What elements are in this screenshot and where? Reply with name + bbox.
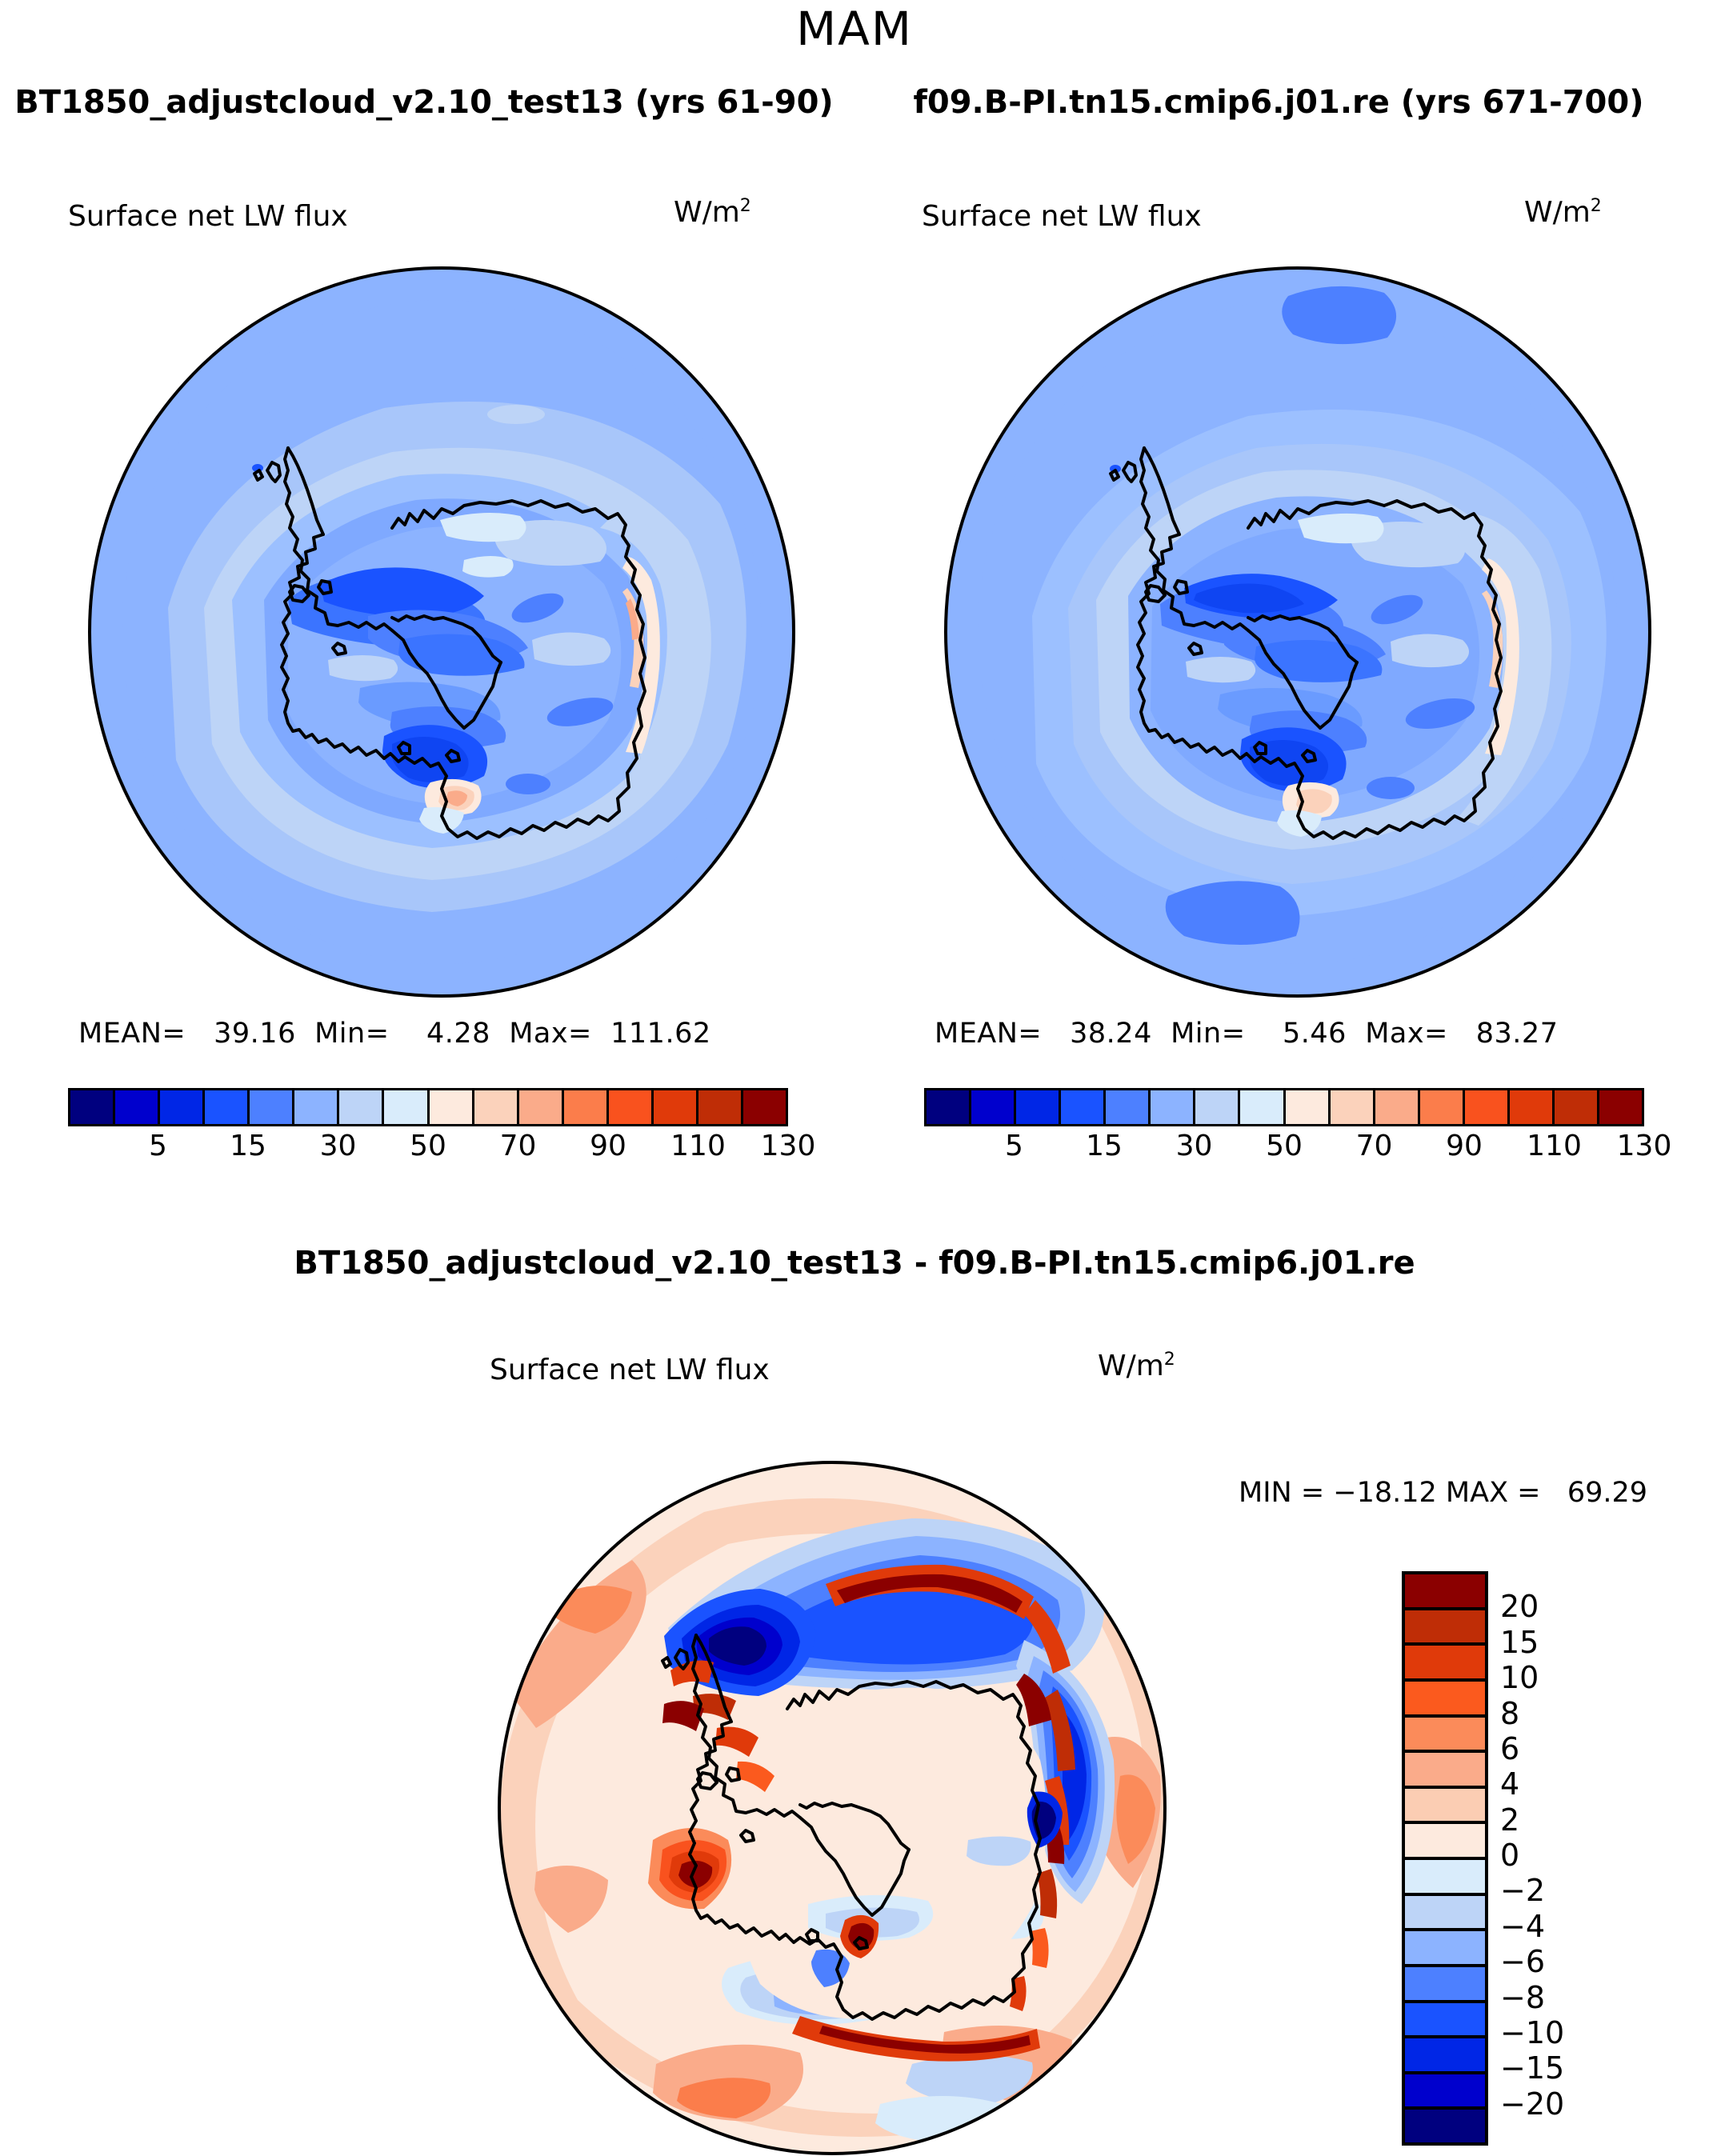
colorbar-cell	[1405, 1824, 1485, 1860]
colorbar-tick-label: 30	[320, 1130, 357, 1162]
colorbar-tick-label: 130	[761, 1130, 816, 1162]
colorbar-cell	[971, 1090, 1016, 1124]
colorbar-top-left	[68, 1088, 788, 1126]
variable-label-top-right: Surface net LW flux	[922, 200, 1202, 233]
colorbar-top-right	[924, 1088, 1644, 1126]
colorbar-cell	[1405, 1646, 1485, 1682]
colorbar-tick-label: 110	[1527, 1130, 1582, 1162]
colorbar-tick-label: −8	[1500, 1980, 1545, 2015]
colorbar-cell	[1286, 1090, 1331, 1124]
colorbar-tick-label: −20	[1500, 2086, 1564, 2122]
colorbar-tick-label: 110	[670, 1130, 726, 1162]
colorbar-tick-label: −4	[1500, 1909, 1545, 1944]
colorbar-tick-label: 50	[410, 1130, 446, 1162]
colorbar-tick-label: 15	[1086, 1130, 1123, 1162]
minmax-difference: MIN = −18.12 MAX = 69.29	[1239, 1477, 1647, 1509]
colorbar-cell	[1405, 2038, 1485, 2074]
colorbar-tick-label: 10	[1500, 1660, 1539, 1695]
unit-label-top-left: W/m2	[674, 196, 751, 229]
colorbar-cell	[1510, 1090, 1555, 1124]
colorbar-cell	[1405, 1574, 1485, 1610]
colorbar-tick-label: 0	[1500, 1838, 1519, 1873]
colorbar-ticks-top-left: 51530507090110130	[68, 1130, 788, 1170]
colorbar-tick-label: −15	[1500, 2050, 1564, 2086]
colorbar-cell	[474, 1090, 519, 1124]
colorbar-cell	[927, 1090, 971, 1124]
map-top-right	[904, 264, 1688, 1000]
colorbar-tick-label: 20	[1500, 1589, 1539, 1624]
colorbar-tick-label: −6	[1500, 1944, 1545, 1979]
colorbar-cell	[70, 1090, 115, 1124]
colorbar-cell	[1599, 1090, 1642, 1124]
map-difference	[464, 1456, 1200, 2156]
colorbar-cell	[1555, 1090, 1599, 1124]
colorbar-ticks-top-right: 51530507090110130	[924, 1130, 1644, 1170]
colorbar-cell	[1405, 2110, 1485, 2142]
unit-text: W/m	[674, 196, 740, 229]
colorbar-tick-label: 90	[1446, 1130, 1483, 1162]
colorbar-cell	[205, 1090, 250, 1124]
colorbar-cell	[1405, 2074, 1485, 2110]
colorbar-tick-label: 90	[590, 1130, 626, 1162]
colorbar-cell	[1405, 2003, 1485, 2039]
colorbar-cell	[654, 1090, 698, 1124]
colorbar-tick-label: 30	[1176, 1130, 1213, 1162]
colorbar-cell	[1061, 1090, 1106, 1124]
unit-exponent: 2	[1591, 196, 1602, 216]
colorbar-cell	[609, 1090, 654, 1124]
colorbar-cell	[564, 1090, 609, 1124]
unit-text: W/m	[1098, 1350, 1164, 1382]
colorbar-ticks-difference: 20151086420−2−4−6−8−10−15−20	[1500, 1571, 1660, 2142]
colorbar-tick-label: 5	[1005, 1130, 1023, 1162]
colorbar-cell	[1465, 1090, 1510, 1124]
season-title: MAM	[0, 2, 1709, 56]
colorbar-cell	[430, 1090, 474, 1124]
colorbar-tick-label: −10	[1500, 2015, 1564, 2050]
variable-label-difference: Surface net LW flux	[490, 1354, 770, 1386]
colorbar-cell	[698, 1090, 743, 1124]
unit-exponent: 2	[740, 196, 751, 216]
colorbar-cell	[1331, 1090, 1375, 1124]
colorbar-tick-label: 70	[500, 1130, 537, 1162]
colorbar-tick-label: 70	[1356, 1130, 1393, 1162]
colorbar-tick-label: 6	[1500, 1731, 1519, 1766]
colorbar-cell	[519, 1090, 564, 1124]
panel-title-difference: BT1850_adjustcloud_v2.10_test13 - f09.B-…	[0, 1245, 1709, 1282]
colorbar-cell	[1405, 1967, 1485, 2003]
panel-title-top-left: BT1850_adjustcloud_v2.10_test13 (yrs 61-…	[0, 84, 848, 121]
panel-title-top-right: f09.B-PI.tn15.cmip6.j01.re (yrs 671-700)	[848, 84, 1709, 121]
colorbar-cell	[1240, 1090, 1285, 1124]
variable-label-top-left: Surface net LW flux	[68, 200, 348, 233]
colorbar-cell	[1405, 1789, 1485, 1825]
stats-top-left: MEAN= 39.16 Min= 4.28 Max= 111.62	[78, 1018, 711, 1050]
colorbar-cell	[1405, 1718, 1485, 1754]
colorbar-tick-label: 8	[1500, 1696, 1519, 1731]
colorbar-tick-label: 5	[149, 1130, 167, 1162]
stats-top-right: MEAN= 38.24 Min= 5.46 Max= 83.27	[935, 1018, 1558, 1050]
colorbar-tick-label: 15	[230, 1130, 266, 1162]
colorbar-cell	[1405, 1610, 1485, 1646]
colorbar-cell	[339, 1090, 384, 1124]
colorbar-difference	[1402, 1571, 1488, 2146]
colorbar-cell	[294, 1090, 339, 1124]
colorbar-tick-label: 50	[1266, 1130, 1303, 1162]
colorbar-cell	[743, 1090, 786, 1124]
colorbar-cell	[1195, 1090, 1240, 1124]
unit-exponent: 2	[1164, 1350, 1175, 1370]
map-top-left	[48, 264, 832, 1000]
colorbar-cell	[1151, 1090, 1195, 1124]
colorbar-cell	[1016, 1090, 1061, 1124]
colorbar-cell	[1405, 1860, 1485, 1896]
colorbar-tick-label: 2	[1500, 1802, 1519, 1838]
colorbar-cell	[1405, 1682, 1485, 1718]
colorbar-cell	[1106, 1090, 1151, 1124]
colorbar-cell	[1420, 1090, 1465, 1124]
colorbar-cell	[384, 1090, 429, 1124]
colorbar-cell	[1375, 1090, 1420, 1124]
unit-label-difference: W/m2	[1098, 1350, 1175, 1382]
colorbar-cell	[1405, 1896, 1485, 1932]
colorbar-cell	[250, 1090, 294, 1124]
colorbar-cell	[1405, 1753, 1485, 1789]
colorbar-cell	[1405, 1931, 1485, 1967]
colorbar-cell	[115, 1090, 160, 1124]
colorbar-cell	[160, 1090, 205, 1124]
unit-text: W/m	[1524, 196, 1591, 229]
unit-label-top-right: W/m2	[1524, 196, 1602, 229]
colorbar-tick-label: 15	[1500, 1625, 1539, 1660]
colorbar-tick-label: −2	[1500, 1873, 1545, 1908]
colorbar-tick-label: 130	[1617, 1130, 1672, 1162]
colorbar-tick-label: 4	[1500, 1766, 1519, 1802]
